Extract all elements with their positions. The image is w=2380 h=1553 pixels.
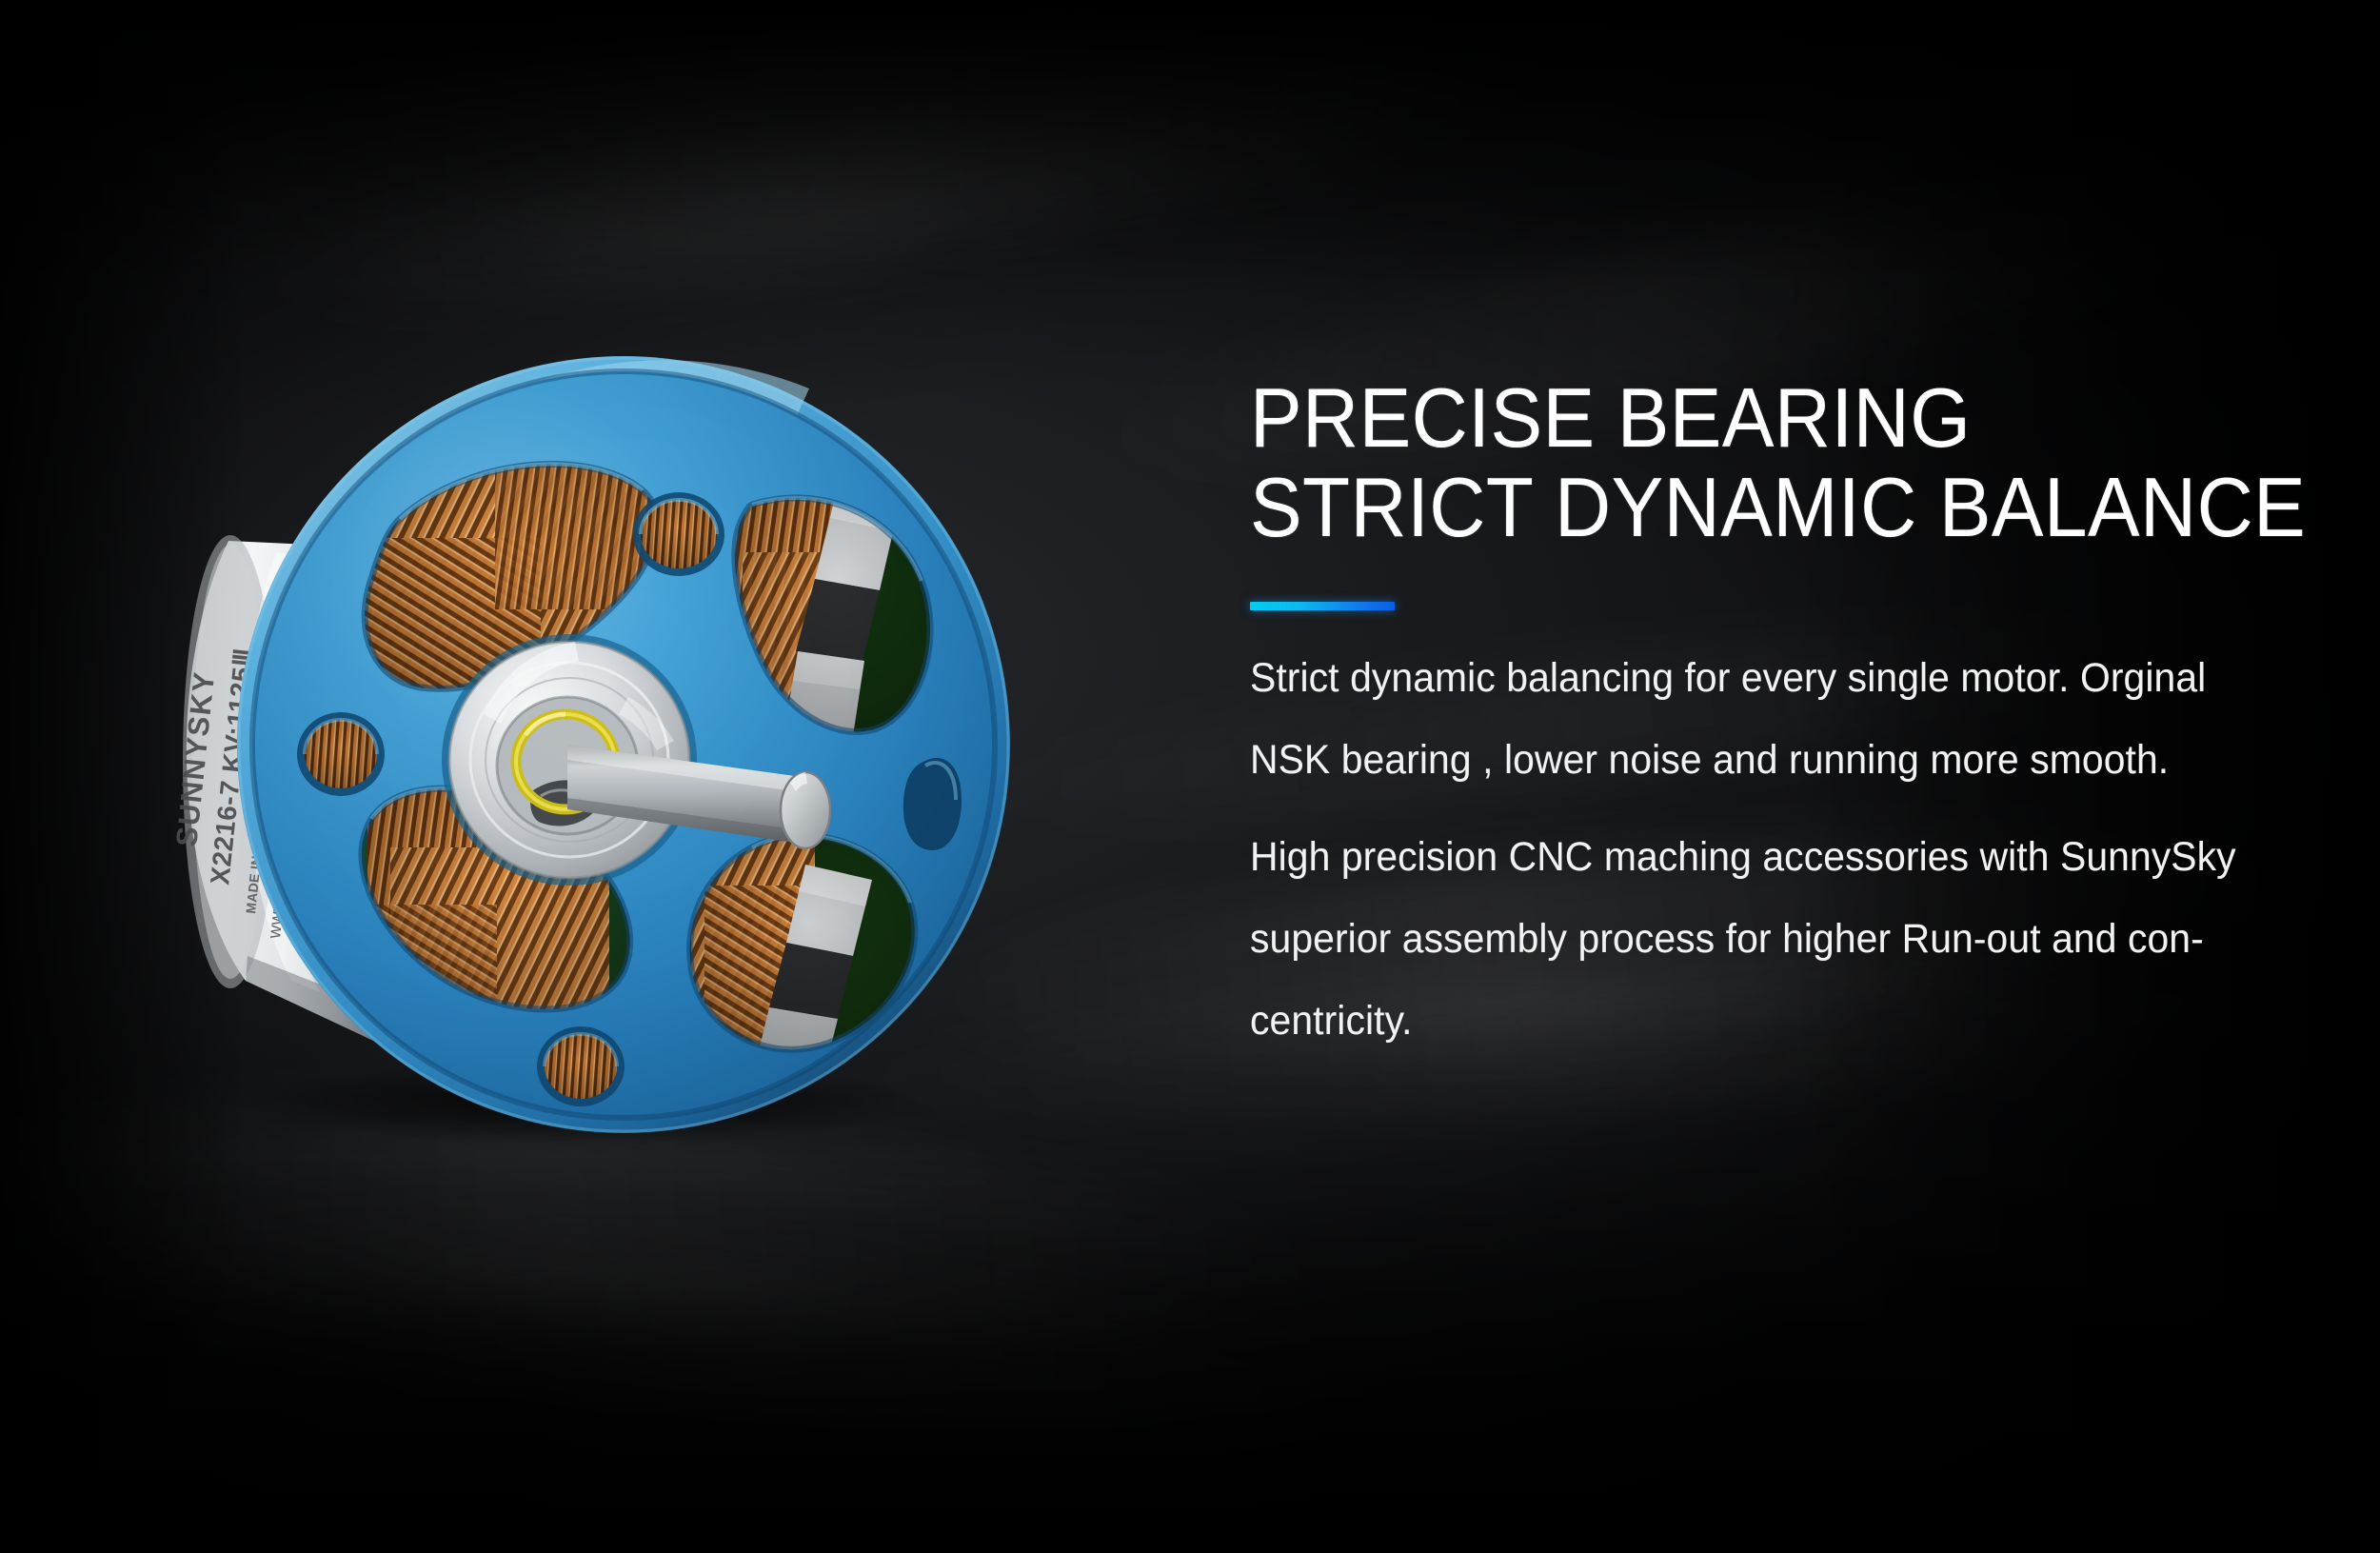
body-paragraph-2-line-3: centricity. bbox=[1250, 1001, 2263, 1042]
copy-panel: PRECISE BEARING STRICT DYNAMIC BALANCE S… bbox=[1250, 373, 2316, 1083]
body-paragraph-1-line-1: Strict dynamic balancing for every singl… bbox=[1250, 658, 2263, 699]
body-paragraph-2-line-2: superior assembly process for higher Run… bbox=[1250, 919, 2263, 960]
body-paragraph-1-line-2: NSK bearing , lower noise and running mo… bbox=[1250, 740, 2263, 781]
product-image-brushless-motor: SUNNYSKY X2216-7 KV:1125Ⅲ MADE IN CHINA … bbox=[86, 314, 1028, 1152]
headline-line-1: PRECISE BEARING bbox=[1250, 373, 2242, 463]
body-paragraph-2-line-1: High precision CNC maching accessories w… bbox=[1250, 837, 2263, 878]
product-feature-banner: SUNNYSKY X2216-7 KV:1125Ⅲ MADE IN CHINA … bbox=[0, 0, 2380, 1553]
headline-line-2: STRICT DYNAMIC BALANCE bbox=[1250, 463, 2242, 552]
body-copy: Strict dynamic balancing for every singl… bbox=[1250, 658, 2316, 1042]
accent-divider-bar bbox=[1250, 602, 1395, 610]
